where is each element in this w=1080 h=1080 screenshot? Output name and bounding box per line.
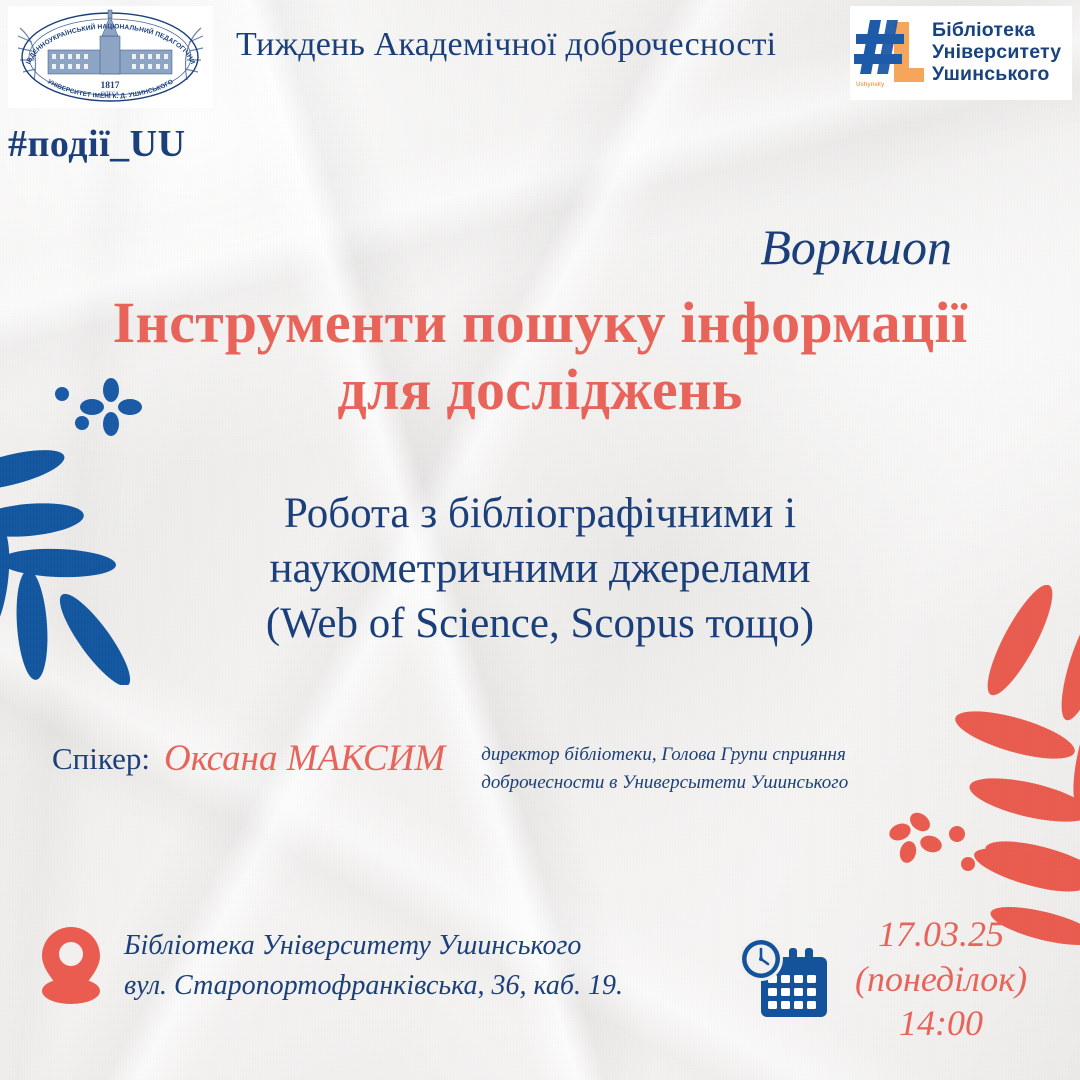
map-pin-icon xyxy=(40,925,102,1007)
title-line-1: Інструменти пошуку інформації xyxy=(113,290,968,355)
venue-line-1: Бібліотека Університету Ушинського xyxy=(124,926,623,966)
subtitle: Робота з бібліографічними і наукометричн… xyxy=(0,486,1080,651)
coral-four-petal-flower-decoration xyxy=(884,806,1004,886)
venue-line-2: вул. Старопортофранківська, 36, каб. 19. xyxy=(124,966,623,1006)
speaker-role-line-1: директор бібліотеки, Голова Групи сприян… xyxy=(481,741,848,769)
speaker-name: Оксана МАКСИМ xyxy=(164,735,445,780)
subtitle-line-1: Робота з бібліографічними і xyxy=(0,486,1080,541)
logo-small-line1: Ushynsky xyxy=(856,82,885,88)
seal-year: 1817 xyxy=(101,81,120,91)
poster-canvas: 1817 ОДЕСА ПІВДЕННОУКРАЇНСЬКИЙ НАЦІОНАЛЬ… xyxy=(0,0,1080,1080)
library-logo-line3: Ушинського xyxy=(932,64,1061,86)
datetime-block: 17.03.25 (понеділок) 14:00 xyxy=(735,912,1027,1046)
venue-address: Бібліотека Університету Ушинського вул. … xyxy=(124,926,623,1006)
library-logo-text: Бібліотека Університету Ушинського xyxy=(932,20,1061,85)
venue-block: Бібліотека Університету Ушинського вул. … xyxy=(40,925,623,1007)
calendar-clock-icon xyxy=(735,933,831,1025)
speaker-label: Спікер: xyxy=(52,735,150,777)
subtitle-line-3: (Web of Science, Scopus тощо) xyxy=(0,596,1080,651)
library-logo-line2: Університету xyxy=(932,42,1061,64)
university-seal-logo: 1817 ОДЕСА ПІВДЕННОУКРАЇНСЬКИЙ НАЦІОНАЛЬ… xyxy=(8,6,213,108)
event-datetime: 17.03.25 (понеділок) 14:00 xyxy=(855,912,1027,1046)
event-weekday: (понеділок) xyxy=(855,957,1027,1002)
hashtag-label: #події_UU xyxy=(8,122,186,166)
speaker-role-line-2: доброчесности в Универсытети Ушинського xyxy=(481,769,848,797)
subtitle-line-2: наукометричними джерелами xyxy=(0,541,1080,596)
event-time: 14:00 xyxy=(855,1001,1027,1046)
speaker-role: директор бібліотеки, Голова Групи сприян… xyxy=(481,735,848,796)
page-title: Інструменти пошуку інформації для дослід… xyxy=(0,292,1080,421)
hash-l-logo-icon: Ushynsky xyxy=(854,16,926,90)
event-type-kicker: Воркшоп xyxy=(760,218,952,276)
speaker-block: Спікер: Оксана МАКСИМ директор бібліотек… xyxy=(52,735,848,796)
event-date: 17.03.25 xyxy=(855,912,1027,957)
title-line-2: для досліджень xyxy=(0,359,1080,422)
event-week-title: Тиждень Академічної доброчесності xyxy=(236,26,776,64)
library-logo: Ushynsky Бібліотека Університету Ушинськ… xyxy=(850,6,1072,100)
library-logo-line1: Бібліотека xyxy=(932,20,1061,42)
